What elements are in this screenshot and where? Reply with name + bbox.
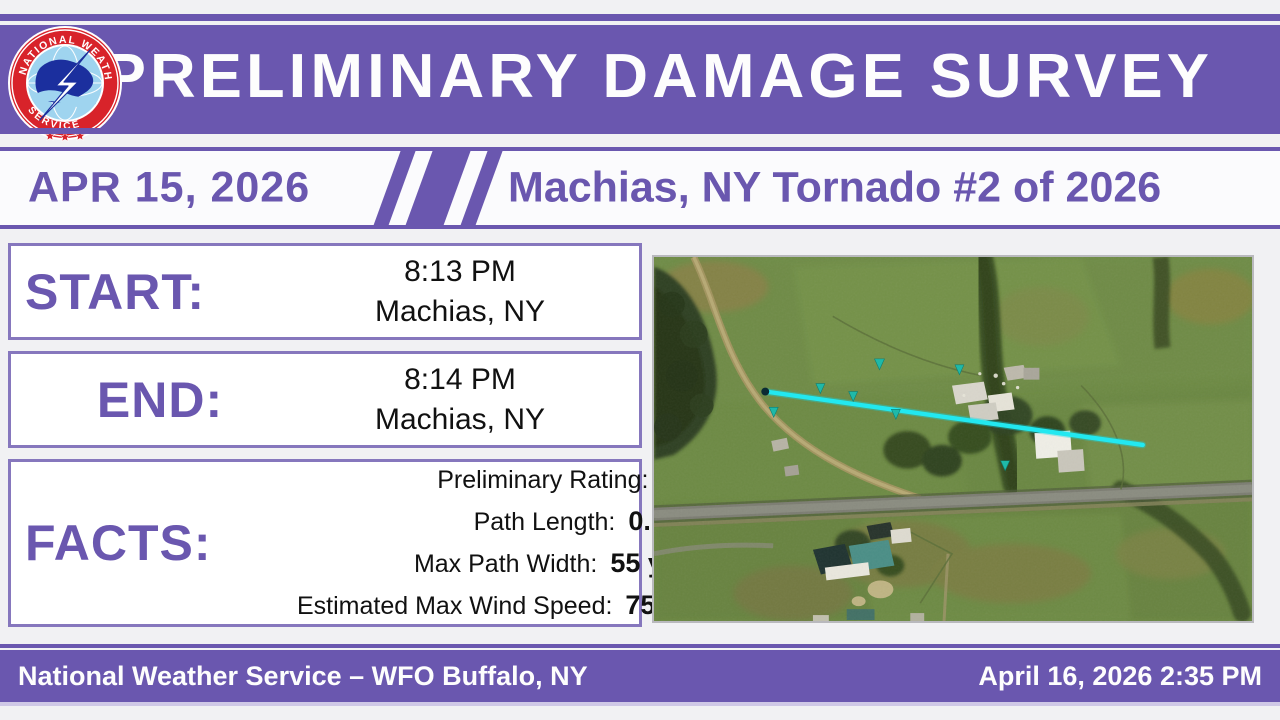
event-name: Machias, NY Tornado #2 of 2026 — [508, 164, 1161, 213]
footer-timestamp: April 16, 2026 2:35 PM — [978, 661, 1262, 692]
end-time: 8:14 PM — [295, 360, 625, 400]
damage-survey-graphic: PRELIMINARY DAMAGE SURVEY — [0, 0, 1280, 720]
top-divider-rule — [0, 14, 1280, 21]
nws-logo: NATIONAL WEATHER SERVICE — [6, 24, 124, 142]
info-column: START: 8:13 PM Machias, NY END: 8:14 PM … — [8, 243, 642, 638]
event-date: APR 15, 2026 — [28, 164, 310, 213]
fact-label-wind-speed: Estimated Max Wind Speed: — [297, 592, 612, 620]
fact-label-path-length: Path Length: — [474, 508, 616, 536]
aerial-imagery — [654, 257, 1252, 621]
footer-bar: National Weather Service – WFO Buffalo, … — [0, 650, 1280, 702]
end-value: 8:14 PM Machias, NY — [295, 360, 625, 439]
facts-label: FACTS: — [25, 514, 297, 572]
start-time: 8:13 PM — [295, 252, 625, 292]
facts-info-box: FACTS: Preliminary Rating: EF-0 Path Len… — [8, 459, 642, 627]
aerial-damage-map[interactable] — [652, 255, 1254, 623]
start-value: 8:13 PM Machias, NY — [295, 252, 625, 331]
header-bar: PRELIMINARY DAMAGE SURVEY — [0, 25, 1280, 128]
start-location: Machias, NY — [295, 292, 625, 332]
fact-label-path-width: Max Path Width: — [414, 550, 597, 578]
fact-label-rating: Preliminary Rating: — [437, 466, 648, 494]
page-title: PRELIMINARY DAMAGE SURVEY — [0, 41, 1280, 112]
slash-divider — [372, 147, 522, 229]
end-info-box: END: 8:14 PM Machias, NY — [8, 351, 642, 448]
header-underline-rule — [0, 128, 1280, 134]
footer-office: National Weather Service – WFO Buffalo, … — [18, 661, 588, 692]
footer-top-rule — [0, 644, 1280, 648]
start-info-box: START: 8:13 PM Machias, NY — [8, 243, 642, 340]
footer-bottom-rule — [0, 702, 1280, 706]
event-band: APR 15, 2026 Machias, NY Tornado #2 of 2… — [0, 147, 1280, 229]
content-area: START: 8:13 PM Machias, NY END: 8:14 PM … — [0, 233, 1280, 644]
end-location: Machias, NY — [295, 400, 625, 440]
start-label: START: — [25, 263, 295, 321]
end-label: END: — [25, 371, 295, 429]
